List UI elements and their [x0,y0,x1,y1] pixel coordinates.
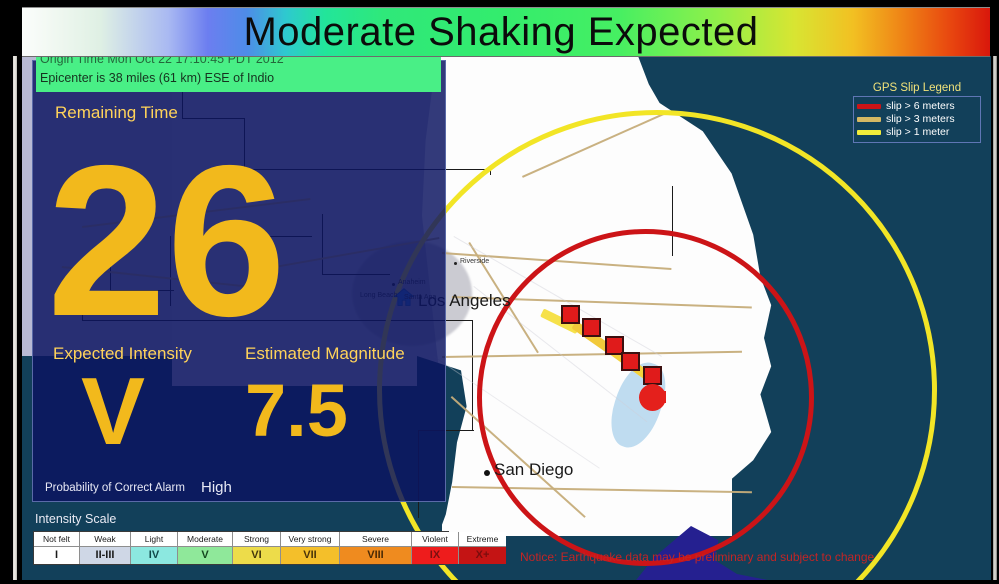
intensity-name: Extreme [459,532,506,547]
intensity-column-iv: LightIV [131,532,178,564]
fault-segment-marker[interactable] [561,305,580,324]
gps-legend-swatch [857,117,881,122]
fault-segment-marker[interactable] [643,366,662,385]
intensity-name: Weak [80,532,130,547]
intensity-scale-title: Intensity Scale [35,512,451,526]
intensity-name: Very strong [281,532,339,547]
city-dot-riverside [454,262,457,265]
gps-legend-swatch [857,130,881,135]
intensity-name: Strong [233,532,280,547]
intensity-name: Moderate [178,532,232,547]
gps-legend-label: slip > 1 meter [886,126,949,138]
banner-title: Moderate Shaking Expected [243,10,758,55]
window-scrollbar-right[interactable] [993,56,997,584]
gps-legend-row: slip > 6 meters [857,100,977,112]
intensity-column-ii-iii: WeakII-III [80,532,131,564]
epicenter-marker[interactable] [639,384,666,411]
preliminary-data-notice: Notice: Earthquake data may be prelimina… [520,550,874,564]
window-frame-bottom [0,580,999,584]
intensity-name: Not felt [34,532,79,547]
intensity-column-viii: SevereVIII [340,532,412,564]
fault-segment-marker[interactable] [621,352,640,371]
intensity-roman: VII [281,547,339,564]
intensity-roman: VIII [340,547,411,564]
intensity-name: Severe [340,532,411,547]
estimated-magnitude-label: Estimated Magnitude [245,344,405,364]
shakealert-window: Los Angeles San Diego Riverside Anaheim … [0,0,999,584]
intensity-roman: V [178,547,232,564]
estimated-magnitude-value: 7.5 [245,374,348,448]
gps-legend-row: slip > 3 meters [857,113,977,125]
intensity-scale: Intensity Scale Not feltIWeakII-IIILight… [33,512,451,574]
intensity-column-i: Not feltI [34,532,80,564]
fault-segment-marker[interactable] [582,318,601,337]
gps-slip-legend: GPS Slip Legend slip > 6 metersslip > 3 … [853,82,981,143]
city-dot-san-diego [484,470,490,476]
gps-legend-row: slip > 1 meter [857,126,977,138]
intensity-roman: II-III [80,547,130,564]
intensity-column-x-: ExtremeX+ [459,532,506,564]
intensity-scale-row: Not feltIWeakII-IIILightIVModerateVStron… [33,531,449,565]
intensity-roman: X+ [459,547,506,564]
window-scrollbar-left[interactable] [13,56,17,584]
expected-intensity-value: V [81,364,145,460]
shaking-alert-banner: Moderate Shaking Expected [12,7,990,57]
intensity-name: Light [131,532,177,547]
intensity-roman: I [34,547,79,564]
remaining-time-value: 26 [47,133,286,348]
window-frame-left [0,0,22,584]
epicenter-text: Epicenter is 38 miles (61 km) ESE of Ind… [36,69,441,88]
gps-legend-label: slip > 6 meters [886,100,955,112]
intensity-column-ix: ViolentIX [412,532,459,564]
intensity-roman: IV [131,547,177,564]
intensity-column-v: ModerateV [178,532,233,564]
intensity-name: Violent [412,532,458,547]
gps-legend-title: GPS Slip Legend [853,82,981,94]
intensity-roman: VI [233,547,280,564]
city-label-san-diego: San Diego [494,460,573,480]
alert-info-panel: Remaining Time 26 Expected Intensity V E… [32,60,446,502]
intensity-column-vi: StrongVI [233,532,281,564]
gps-legend-swatch [857,104,881,109]
intensity-roman: IX [412,547,458,564]
city-label-riverside: Riverside [460,258,489,265]
gps-legend-box: slip > 6 metersslip > 3 metersslip > 1 m… [853,96,981,143]
probability-label: Probability of Correct Alarm [45,482,185,494]
gps-legend-label: slip > 3 meters [886,113,955,125]
intensity-column-vii: Very strongVII [281,532,340,564]
probability-value: High [201,479,232,496]
